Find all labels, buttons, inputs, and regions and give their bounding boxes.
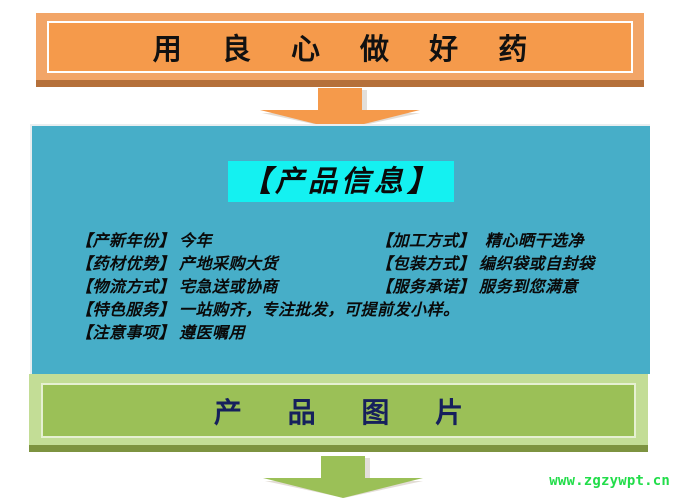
- detail-cell: 【产新年份】 今年: [76, 227, 376, 251]
- top-banner: 用 良 心 做 好 药: [36, 13, 644, 87]
- top-banner-inner: 用 良 心 做 好 药: [47, 21, 633, 73]
- green-banner-inner: 产 品 图 片: [41, 383, 636, 438]
- detail-key: 【物流方式】: [76, 273, 175, 297]
- detail-key: 【服务承诺】: [376, 273, 475, 297]
- product-info-title: 【产品信息】: [228, 161, 454, 202]
- detail-value: 一站购齐，专注批发，可提前发小样。: [179, 296, 460, 320]
- detail-key: 【药材优势】: [76, 250, 175, 274]
- detail-value: 宅急送或协商: [179, 273, 278, 297]
- product-images-title: 产 品 图 片: [196, 391, 481, 431]
- top-banner-title: 用 良 心 做 好 药: [138, 26, 542, 68]
- detail-key: 【加工方式】: [376, 227, 475, 251]
- detail-row: 【物流方式】 宅急送或协商 【服务承诺】 服务到您满意: [76, 273, 676, 296]
- poster-canvas: 用 良 心 做 好 药 【产品信息】 【产新年份】 今年 【加工方式】 精心晒干…: [0, 0, 680, 500]
- detail-key: 【产新年份】: [76, 227, 175, 251]
- product-info-title-wrap: 【产品信息】: [32, 161, 650, 202]
- detail-cell: 【药材优势】 产地采购大货: [76, 250, 376, 274]
- detail-row: 【特色服务】 一站购齐，专注批发，可提前发小样。: [76, 296, 676, 319]
- detail-cell: 【注意事项】 遵医嘱用: [76, 319, 245, 343]
- detail-value: 今年: [179, 227, 212, 251]
- arrow-down-icon-bottom: [263, 456, 423, 496]
- product-detail-list: 【产新年份】 今年 【加工方式】 精心晒干选净 【药材优势】 产地采购大货 【包…: [76, 227, 676, 342]
- detail-row: 【注意事项】 遵医嘱用: [76, 319, 676, 342]
- detail-cell: 【服务承诺】 服务到您满意: [376, 273, 676, 297]
- site-watermark: www.zgzywpt.cn: [549, 473, 670, 489]
- detail-value: 服务到您满意: [479, 273, 578, 297]
- product-info-panel: 【产品信息】 【产新年份】 今年 【加工方式】 精心晒干选净 【药材优势】 产地…: [30, 124, 650, 374]
- arrow-head: [263, 478, 423, 498]
- detail-cell: 【物流方式】 宅急送或协商: [76, 273, 376, 297]
- detail-key: 【注意事项】: [76, 319, 175, 343]
- detail-value: 遵医嘱用: [179, 319, 245, 343]
- detail-value: 产地采购大货: [179, 250, 278, 274]
- detail-row: 【产新年份】 今年 【加工方式】 精心晒干选净: [76, 227, 676, 250]
- detail-cell: 【特色服务】 一站购齐，专注批发，可提前发小样。: [76, 296, 460, 320]
- detail-value: 编织袋或自封袋: [479, 250, 595, 274]
- product-images-banner: 产 品 图 片: [29, 374, 648, 452]
- detail-row: 【药材优势】 产地采购大货 【包装方式】 编织袋或自封袋: [76, 250, 676, 273]
- detail-cell: 【加工方式】 精心晒干选净: [376, 227, 676, 251]
- detail-value: 精心晒干选净: [485, 227, 584, 251]
- detail-key: 【包装方式】: [376, 250, 475, 274]
- arrow-down-icon-top: [260, 88, 420, 128]
- detail-key: 【特色服务】: [76, 296, 175, 320]
- detail-cell: 【包装方式】 编织袋或自封袋: [376, 250, 676, 274]
